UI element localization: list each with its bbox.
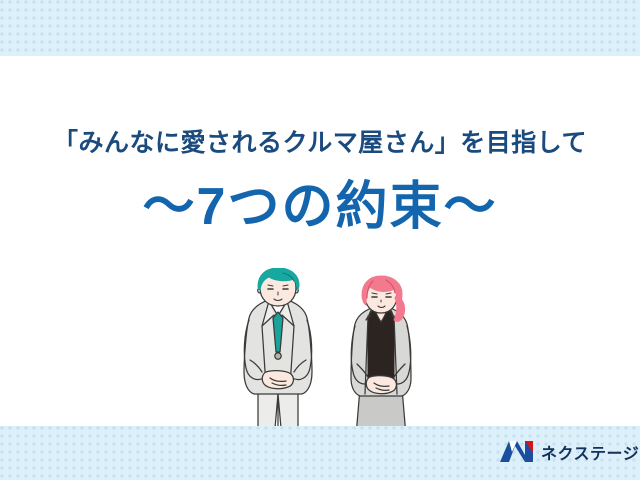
female-staff-figure	[351, 276, 411, 428]
subheadline-text: 〜7つの約束〜	[0, 178, 640, 238]
nextage-n-mark-icon	[500, 441, 534, 468]
top-dotted-band	[0, 0, 640, 56]
nextage-logo: ネクステージ	[500, 441, 639, 468]
nextage-logo-text: ネクステージ	[541, 447, 639, 463]
promo-banner: 「みんなに愛されるクルマ屋さん」を目指して 〜7つの約束〜	[0, 0, 640, 480]
male-staff-figure	[244, 268, 312, 428]
headline-text: 「みんなに愛されるクルマ屋さん」を目指して	[0, 128, 640, 158]
two-staff-bowing-illustration	[228, 268, 433, 428]
